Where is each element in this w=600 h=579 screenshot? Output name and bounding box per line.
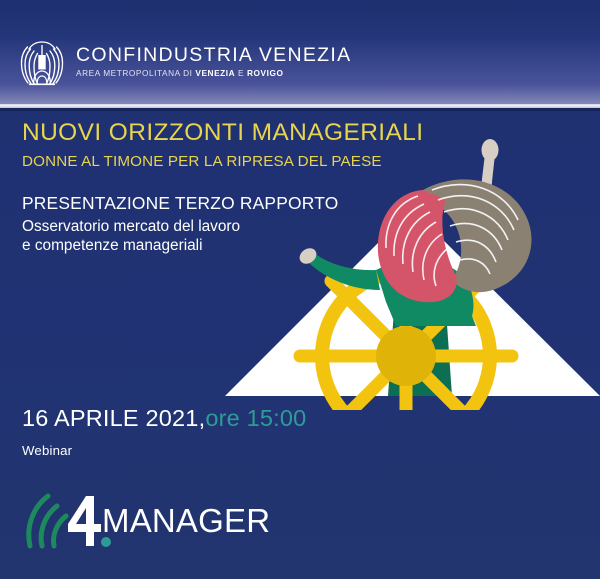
report-line-1: Osservatorio mercato del lavoro (22, 217, 422, 237)
area-prefix: AREA METROPOLITANA DI (76, 68, 195, 78)
confindustria-lion-mark (16, 38, 68, 90)
area-city-rovigo: ROVIGO (247, 68, 284, 78)
event-poster: CONFINDUSTRIA VENEZIA AREA METROPOLITANA… (0, 0, 600, 579)
poster-subtitle: DONNE AL TIMONE PER LA RIPRESA DEL PAESE (22, 154, 422, 171)
organization-name: CONFINDUSTRIA VENEZIA (76, 46, 351, 66)
event-details: 16 APRILE 2021,ore 15:00 Webinar (22, 406, 442, 458)
headline-block: NUOVI ORIZZONTI MANAGERIALI DONNE AL TIM… (22, 120, 422, 256)
signal-arcs-icon (29, 496, 66, 546)
presentation-label: PRESENTAZIONE TERZO RAPPORTO (22, 193, 422, 213)
header-divider-shadow (0, 108, 600, 111)
area-join: E (235, 68, 247, 78)
event-date: 16 APRILE 2021, (22, 405, 205, 431)
poster-title: NUOVI ORIZZONTI MANAGERIALI (22, 120, 422, 147)
raised-fist (482, 139, 499, 161)
wheel-hub (376, 326, 436, 386)
report-title: Osservatorio mercato del lavoro e compet… (22, 217, 422, 256)
event-datetime: 16 APRILE 2021,ore 15:00 (22, 406, 442, 432)
organization-area: AREA METROPOLITANA DI VENEZIA E ROVIGO (76, 69, 351, 77)
event-time: ore 15:00 (205, 405, 306, 431)
event-format: Webinar (22, 444, 442, 459)
manager-wordmark: MANAGER (102, 504, 270, 537)
confindustria-logo: CONFINDUSTRIA VENEZIA AREA METROPOLITANA… (16, 38, 284, 96)
area-city-venezia: VENEZIA (195, 68, 235, 78)
four-manager-logo: MANAGER (20, 488, 240, 554)
numeral-four (68, 496, 101, 546)
report-line-2: e competenze manageriali (22, 236, 422, 256)
